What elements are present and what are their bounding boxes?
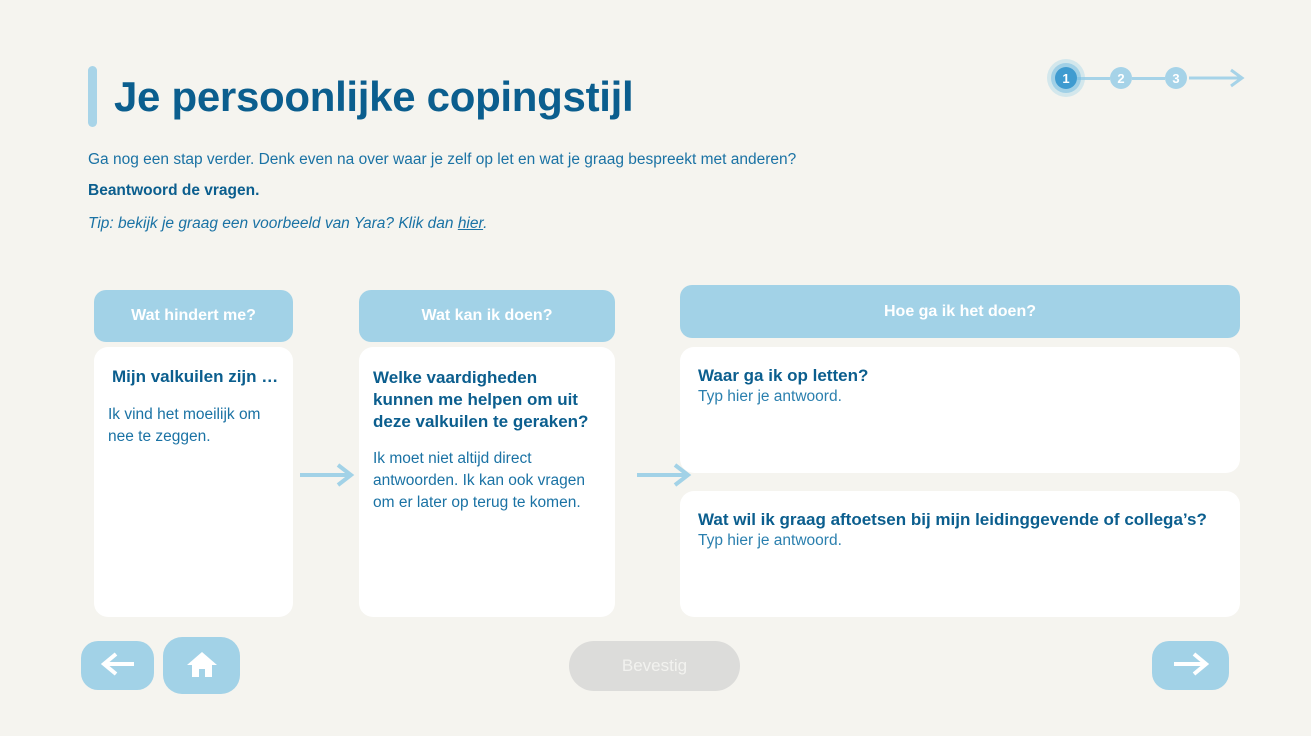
answer-card-wat-wil-ik-aftoetsen[interactable]: Wat wil ik graag aftoetsen bij mijn leid… [680,491,1240,617]
column-header-wat-hindert-me: Wat hindert me? [94,290,293,342]
flow-arrow-right-icon-1 [300,462,358,488]
answer-question-label-1: Waar ga ik op letten? [698,366,1222,386]
column-header-hoe-ga-ik-het-doen: Hoe ga ik het doen? [680,285,1240,338]
arrow-right-icon [1173,651,1209,680]
card-body-vaardigheden: Ik moet niet altijd direct antwoorden. I… [373,448,598,514]
arrow-left-icon [101,651,135,680]
coping-board: Wat hindert me? Mijn valkuilen zijn … Ik… [0,0,1311,736]
card-wat-hindert-me: Mijn valkuilen zijn … Ik vind het moeili… [94,347,293,617]
answer-input-1[interactable]: Typ hier je antwoord. [698,386,1222,408]
card-heading-vaardigheden: Welke vaardigheden kunnen me helpen om u… [373,367,598,432]
answer-input-2[interactable]: Typ hier je antwoord. [698,530,1222,552]
answer-card-waar-ga-ik-op-letten[interactable]: Waar ga ik op letten? Typ hier je antwoo… [680,347,1240,473]
home-icon [186,649,218,682]
card-heading-valkuilen: Mijn valkuilen zijn … [112,366,279,388]
column-header-wat-kan-ik-doen: Wat kan ik doen? [359,290,615,342]
home-button[interactable] [163,637,240,694]
card-wat-kan-ik-doen: Welke vaardigheden kunnen me helpen om u… [359,347,615,617]
confirm-button[interactable]: Bevestig [569,641,740,691]
next-button[interactable] [1152,641,1229,690]
back-button[interactable] [81,641,154,690]
card-body-valkuilen: Ik vind het moeilijk om nee te zeggen. [108,404,279,448]
answer-question-label-2: Wat wil ik graag aftoetsen bij mijn leid… [698,510,1222,530]
